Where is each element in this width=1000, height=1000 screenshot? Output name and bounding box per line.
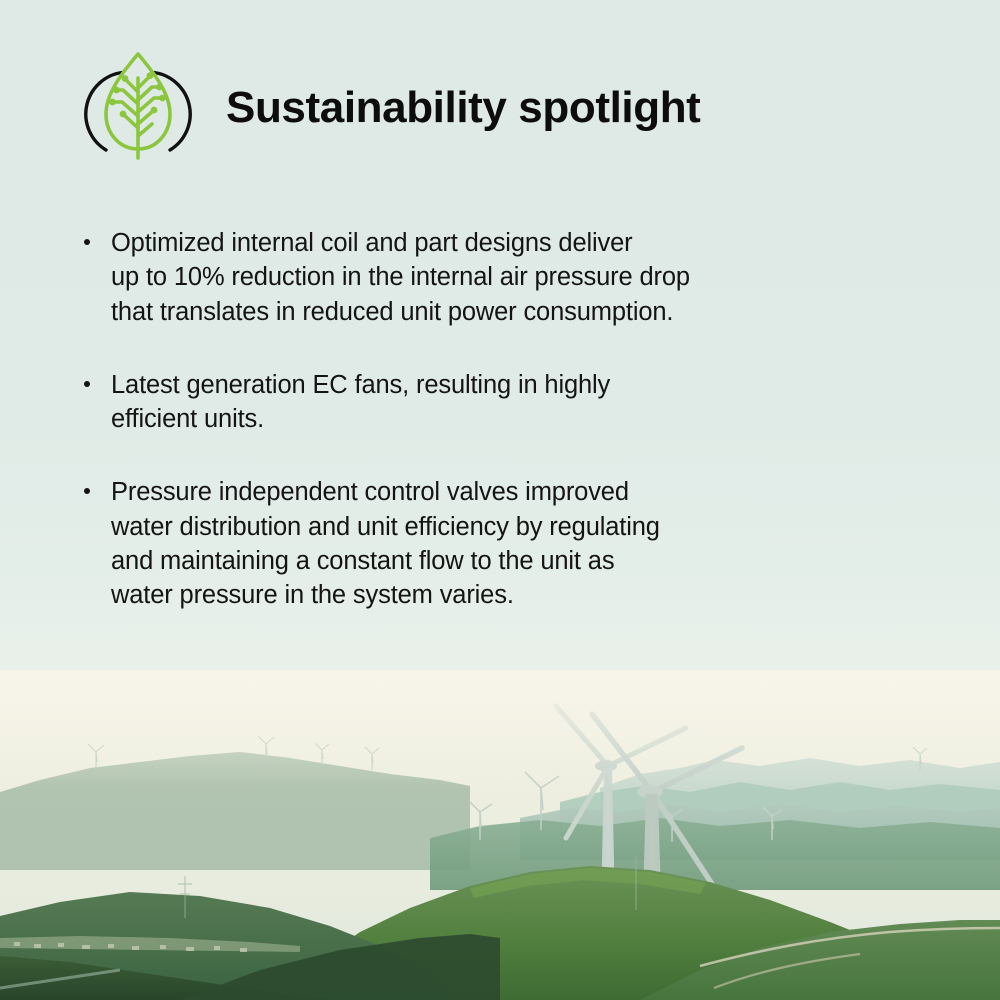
sustainability-spotlight-card: Sustainability spotlight Optimized inter… — [0, 0, 1000, 1000]
card-header: Sustainability spotlight — [76, 48, 700, 172]
list-item-text: Optimized internal coil and part designs… — [111, 226, 910, 329]
sustainability-bullet-list: Optimized internal coil and part designs… — [80, 226, 910, 613]
circuit-leaf-icon — [76, 48, 200, 172]
bullet-marker-icon — [84, 488, 90, 494]
wind-farm-photo — [0, 670, 1000, 1000]
bullet-marker-icon — [84, 381, 90, 387]
list-item: Optimized internal coil and part designs… — [80, 226, 910, 329]
list-item: Latest generation EC fans, resulting in … — [80, 368, 910, 437]
list-item-text: Latest generation EC fans, resulting in … — [111, 368, 910, 437]
list-item: Pressure independent control valves impr… — [80, 475, 910, 612]
list-item-text: Pressure independent control valves impr… — [111, 475, 910, 612]
page-title: Sustainability spotlight — [226, 86, 700, 134]
bullet-marker-icon — [84, 239, 90, 245]
